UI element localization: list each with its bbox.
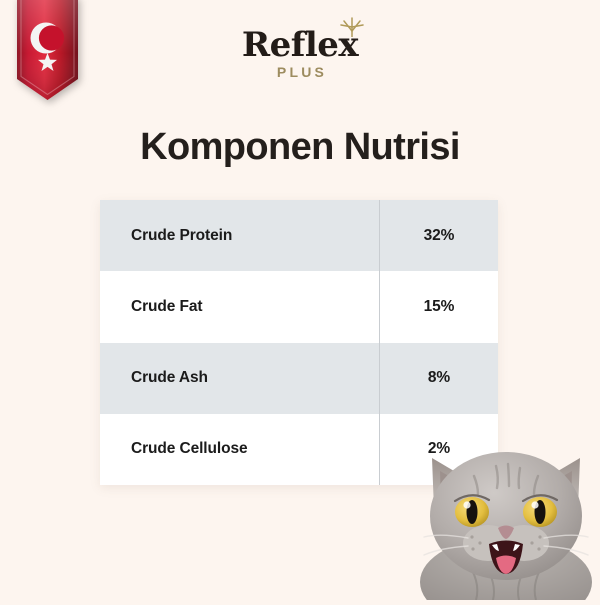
nutrient-label: Crude Ash xyxy=(100,369,379,387)
table-row: Crude Ash 8% xyxy=(100,343,498,414)
nutrient-value: 8% xyxy=(380,369,498,387)
brand-logo: Reflex PLUS xyxy=(0,28,600,79)
page-title: Komponen Nutrisi xyxy=(0,126,600,169)
nutrient-label: Crude Fat xyxy=(100,298,379,316)
brand-wordmark: Reflex xyxy=(242,28,358,62)
nutrient-value: 32% xyxy=(380,227,498,245)
british-shorthair-cat-photo xyxy=(410,432,600,600)
nutrient-value: 15% xyxy=(380,298,498,316)
table-row: Crude Protein 32% xyxy=(100,200,498,271)
nutrient-label: Crude Cellulose xyxy=(100,440,379,458)
nutrient-label: Crude Protein xyxy=(100,227,379,245)
wheat-burst-icon xyxy=(339,15,365,37)
table-row: Crude Fat 15% xyxy=(100,271,498,342)
brand-plus-text: PLUS xyxy=(0,65,600,79)
